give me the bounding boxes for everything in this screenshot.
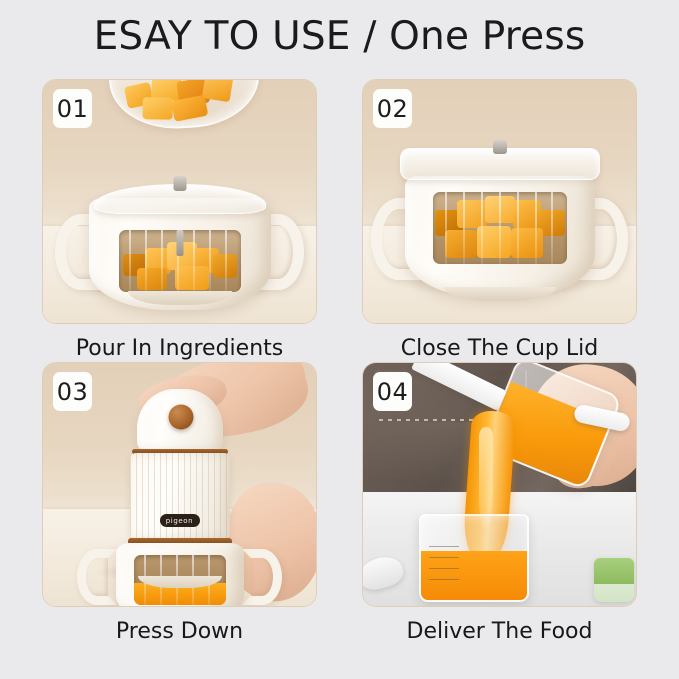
ribbed-housing: pigeon (130, 453, 230, 539)
green-powder (594, 558, 634, 584)
step-number-badge: 02 (373, 89, 412, 128)
step-caption: Deliver The Food (363, 619, 636, 644)
step-number-badge: 03 (53, 372, 92, 411)
step-card-03: pigeon 03 Press Down (43, 363, 316, 646)
brand-label: pigeon (160, 514, 200, 527)
cup-window (433, 192, 567, 264)
cup-handle-right (242, 549, 282, 605)
step-number-badge: 04 (373, 372, 412, 411)
step-number-badge: 01 (53, 89, 92, 128)
measuring-cup (419, 514, 529, 602)
cup-handle-left (77, 549, 117, 605)
lid-knob (493, 140, 507, 154)
pour-stream-highlight (479, 427, 493, 527)
step-card-01: 01 Pour In Ingredients (43, 80, 316, 363)
green-powder-jar (594, 558, 634, 602)
motor-unit (137, 389, 223, 453)
step-card-02: 02 Close The Cup Lid (363, 80, 636, 363)
steps-grid: 01 Pour In Ingredients (43, 80, 636, 646)
page-title: ESAY TO USE / One Press (0, 14, 679, 59)
step-caption: Pour In Ingredients (43, 336, 316, 361)
cup-window (119, 230, 241, 292)
cup-ribs (433, 192, 567, 264)
power-knob[interactable] (169, 405, 194, 430)
step-caption: Close The Cup Lid (363, 336, 636, 361)
infographic-page: ESAY TO USE / One Press (0, 0, 679, 679)
lid-knob (173, 176, 186, 191)
step-card-04: 04 Deliver The Food (363, 363, 636, 646)
step-caption: Press Down (43, 619, 316, 644)
